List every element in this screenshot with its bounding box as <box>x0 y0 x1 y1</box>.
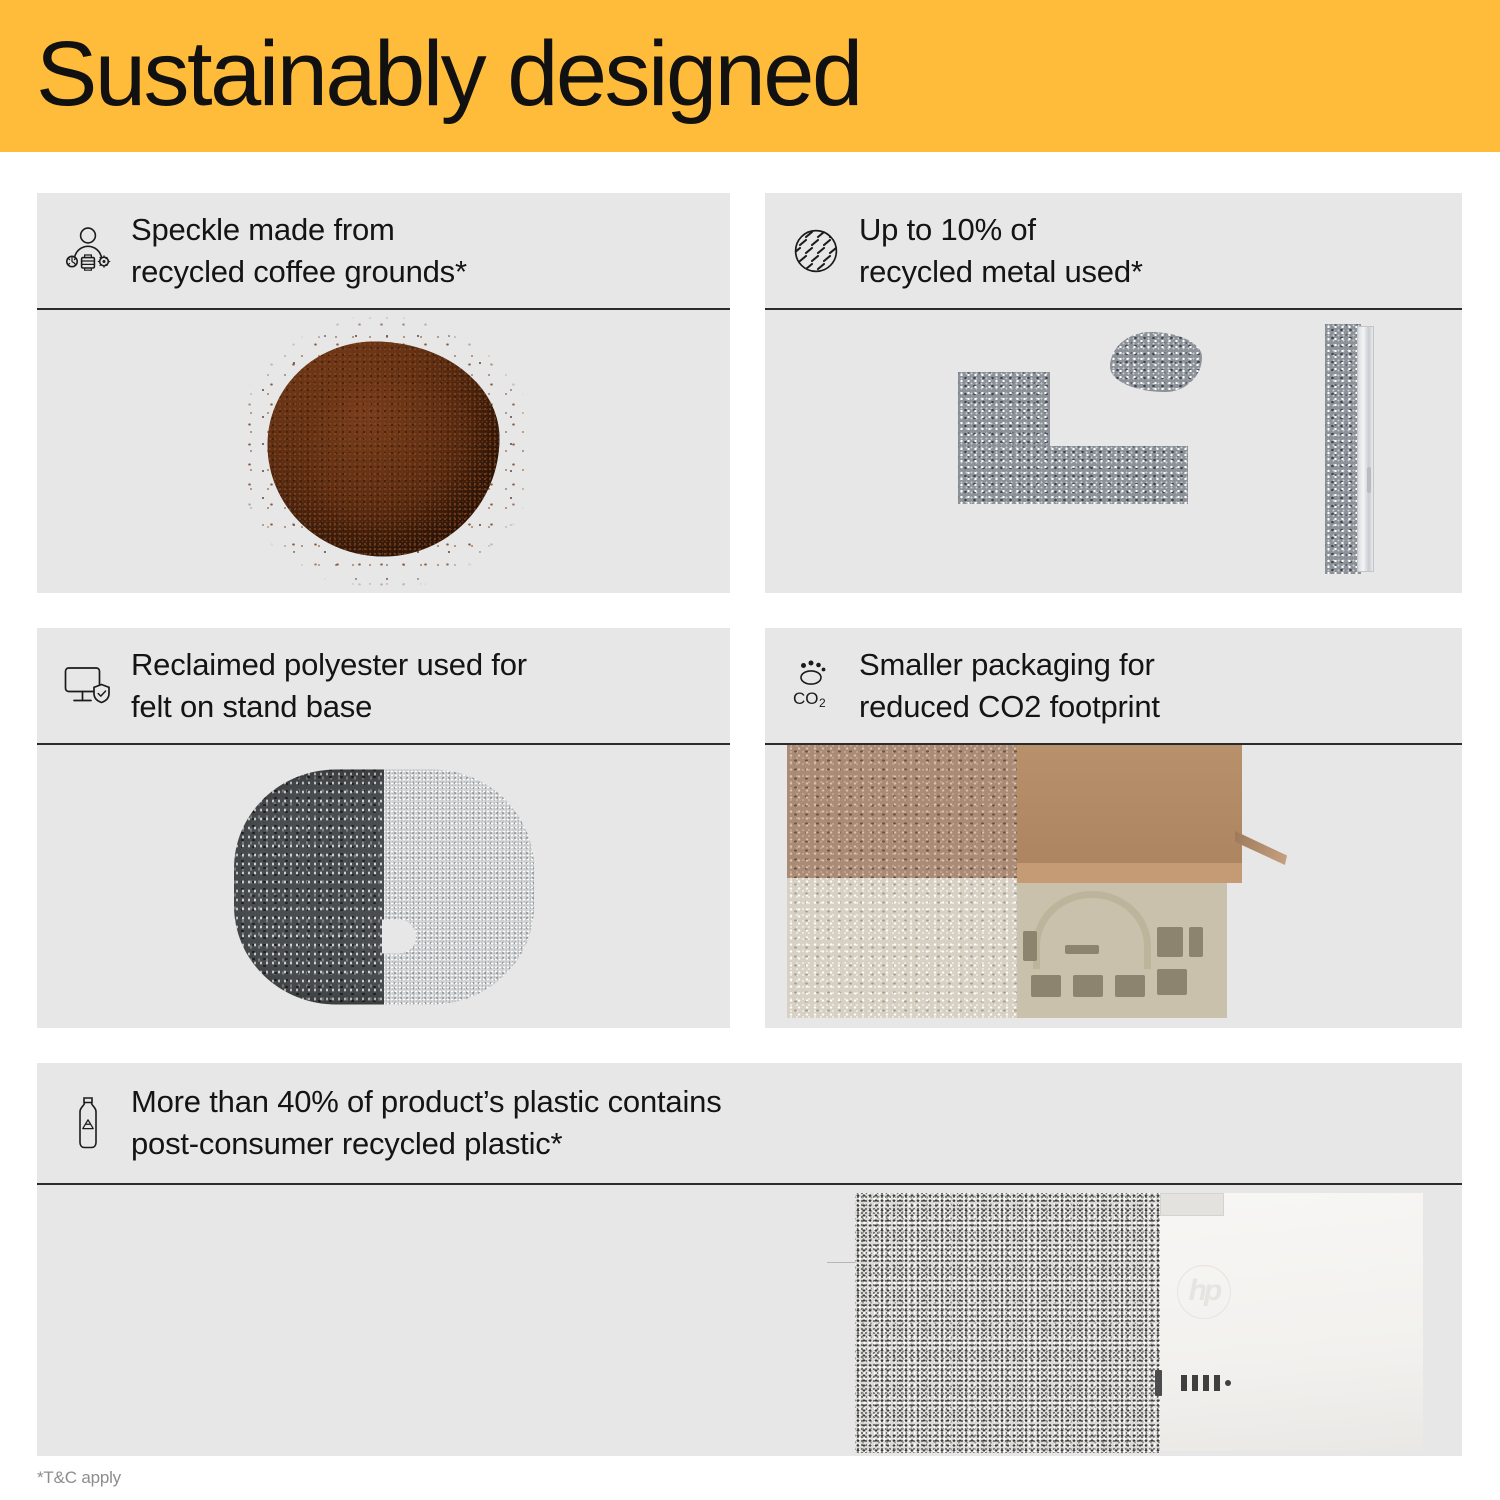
co2-label: CO <box>793 689 819 708</box>
card-title-line-2: felt on stand base <box>131 686 527 728</box>
card-title-line-1: More than 40% of product’s plastic conta… <box>131 1084 722 1119</box>
card-image-recycled-metal <box>765 310 1462 593</box>
pulp-tray-cell <box>1023 931 1037 961</box>
card-header: CO 2 Smaller packaging for reduced CO2 f… <box>765 628 1462 745</box>
monitor-vent <box>1214 1375 1220 1391</box>
monitor-indicator-dot <box>1225 1380 1231 1386</box>
white-recycled-fibre-texture <box>787 878 1017 1018</box>
brown-recycled-fibre-texture <box>787 745 1017 878</box>
monitor-vent <box>1192 1375 1198 1391</box>
metal-shaving-clump <box>1110 332 1202 392</box>
recycled-plastic-scene: hp <box>37 1185 1462 1456</box>
coffee-grounds-pile <box>241 319 526 584</box>
card-smaller-packaging: CO 2 Smaller packaging for reduced CO2 f… <box>765 628 1462 1028</box>
card-header: Up to 10% of recycled metal used* <box>765 193 1462 310</box>
pulp-tray-cell <box>1189 927 1203 957</box>
card-title-line-1: Reclaimed polyester used for <box>131 647 527 682</box>
page-header-banner: Sustainably designed <box>0 0 1500 152</box>
monitor-vent <box>1203 1375 1209 1391</box>
hp-logo-watermark: hp <box>1177 1265 1231 1319</box>
card-recycled-metal: Up to 10% of recycled metal used* <box>765 193 1462 593</box>
card-title-line-1: Smaller packaging for <box>859 647 1155 682</box>
footprint-co2-icon: CO 2 <box>787 651 845 721</box>
card-title: Reclaimed polyester used for felt on sta… <box>131 644 527 728</box>
card-reclaimed-polyester: Reclaimed polyester used for felt on sta… <box>37 628 730 1028</box>
card-title: Speckle made from recycled coffee ground… <box>131 209 467 293</box>
card-header: Speckle made from recycled coffee ground… <box>37 193 730 310</box>
card-title-line-2: recycled metal used* <box>859 251 1143 293</box>
co2-subscript: 2 <box>819 696 826 710</box>
card-image-recycled-plastic: hp <box>37 1185 1462 1456</box>
card-title-line-1: Speckle made from <box>131 212 395 247</box>
pulp-tray-cell <box>1157 969 1187 995</box>
card-title: Up to 10% of recycled metal used* <box>859 209 1143 293</box>
card-recycled-coffee-grounds: Speckle made from recycled coffee ground… <box>37 193 730 593</box>
moulded-pulp-tray <box>1017 883 1227 1018</box>
recycled-bottle-icon <box>59 1088 117 1158</box>
callout-line <box>827 1262 857 1263</box>
packaging-materials-scene <box>765 745 1462 1028</box>
person-coffee-process-icon <box>59 216 117 286</box>
metal-shaving-strip <box>1325 324 1361 574</box>
felt-texture <box>384 769 534 1004</box>
pulp-tray-cell <box>1031 975 1061 997</box>
hatched-circle-metal-icon <box>787 216 845 286</box>
pulp-tray-cell <box>1157 927 1183 957</box>
card-title-line-2: recycled coffee grounds* <box>131 251 467 293</box>
card-image-coffee-grounds <box>37 310 730 593</box>
card-header: Reclaimed polyester used for felt on sta… <box>37 628 730 745</box>
felt-stand-base-split-view <box>234 769 534 1004</box>
pulp-tray-cell <box>1115 975 1145 997</box>
pulp-tray-rib <box>1065 945 1099 954</box>
monitor-top-tab <box>1160 1193 1224 1216</box>
monitor-rear-panel <box>1160 1193 1423 1451</box>
monitor-shield-check-icon <box>59 651 117 721</box>
card-title: Smaller packaging for reduced CO2 footpr… <box>859 644 1160 728</box>
cardboard-box-lid <box>1017 745 1242 863</box>
card-title: More than 40% of product’s plastic conta… <box>131 1081 722 1165</box>
pulp-tray-cell <box>1073 975 1103 997</box>
card-header: More than 40% of product’s plastic conta… <box>37 1063 1462 1185</box>
cardboard-open-flap <box>1235 831 1287 865</box>
metal-shaving-stand-base <box>958 446 1188 504</box>
card-image-felt-stand-base <box>37 745 730 1028</box>
monitor-vent-group <box>1181 1375 1231 1391</box>
page-title: Sustainably designed <box>36 18 861 130</box>
reclaimed-polyester-fibre-half <box>234 769 384 1004</box>
metal-shavings-scene <box>765 310 1462 593</box>
card-recycled-plastic: More than 40% of product’s plastic conta… <box>37 1063 1462 1456</box>
card-image-packaging <box>765 745 1462 1028</box>
monitor-edge-panel <box>1357 326 1374 572</box>
finished-felt-base-half <box>384 769 534 1004</box>
fibre-texture <box>234 769 384 1004</box>
card-title-line-1: Up to 10% of <box>859 212 1036 247</box>
card-title-line-2: post-consumer recycled plastic* <box>131 1123 722 1165</box>
stand-base-notch <box>382 919 416 953</box>
monitor-port <box>1155 1370 1162 1396</box>
recycled-plastic-flakes <box>855 1193 1160 1453</box>
monitor-vent <box>1181 1375 1187 1391</box>
cardboard-box-flap <box>1017 863 1242 883</box>
footnote-terms: *T&C apply <box>37 1468 121 1488</box>
card-title-line-2: reduced CO2 footprint <box>859 686 1160 728</box>
